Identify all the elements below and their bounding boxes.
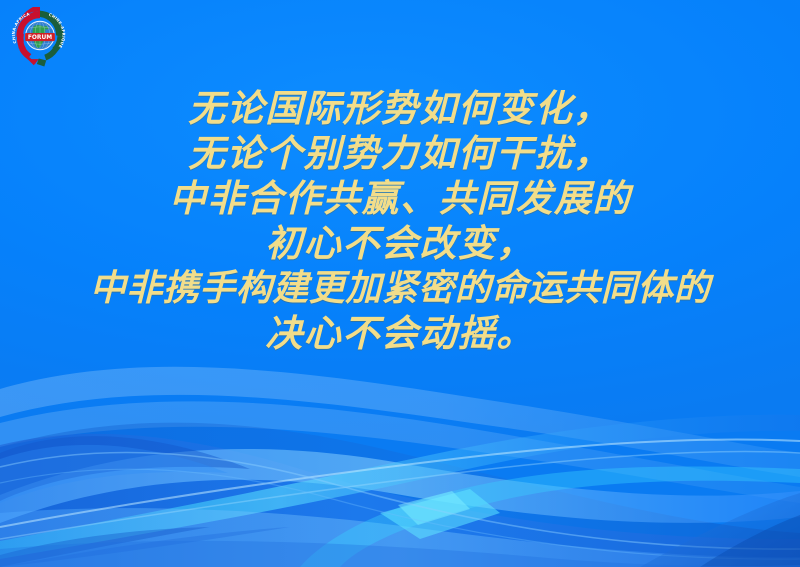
logo-forum-label: FORUM [28, 35, 52, 41]
quote-block: 无论国际形势如何变化， 无论个别势力如何干扰， 中非合作共赢、共同发展的 初心不… [0, 86, 800, 356]
focac-logo: FORUM CHINA-AFRICA CHINE-AFRIQUE [9, 7, 71, 69]
quote-line-4: 初心不会改变， [0, 221, 800, 266]
quote-line-3: 中非合作共赢、共同发展的 [0, 176, 800, 221]
quote-line-5: 中非携手构建更加紧密的命运共同体的 [0, 266, 800, 311]
quote-line-2: 无论个别势力如何干扰， [0, 131, 800, 176]
background-wave-decoration [0, 327, 800, 567]
quote-line-1: 无论国际形势如何变化， [0, 86, 800, 131]
quote-line-6: 决心不会动摇。 [0, 311, 800, 356]
slide-canvas: FORUM CHINA-AFRICA CHINE-AFRIQUE 无论国际形势如… [0, 0, 800, 567]
